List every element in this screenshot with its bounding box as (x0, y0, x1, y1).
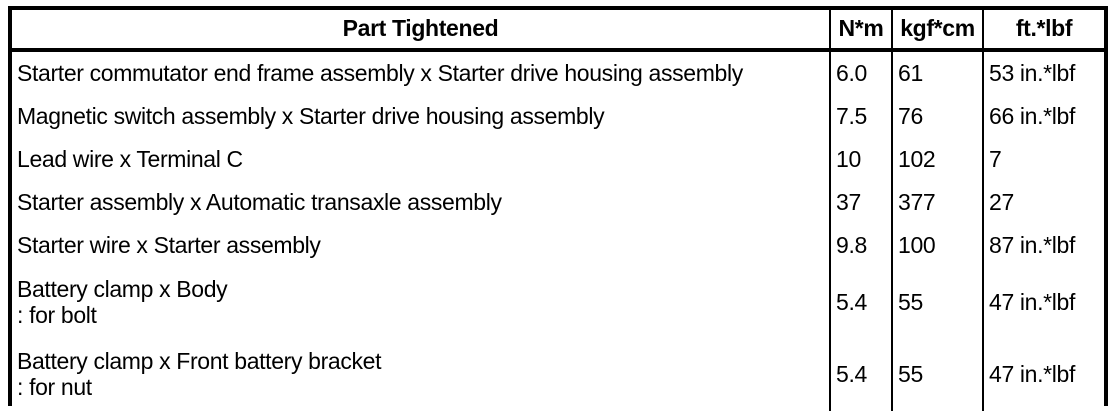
cell-newton-meter: 10 (830, 138, 892, 181)
table-row: Battery clamp x Body : for bolt 5.4 55 4… (12, 267, 1104, 339)
cell-ft-lbf: 27 (983, 181, 1104, 224)
cell-ft-lbf: 87 in.*lbf (983, 224, 1104, 267)
column-header-newton-meter: N*m (830, 10, 892, 50)
cell-part-tightened: Starter commutator end frame assembly x … (12, 50, 830, 95)
cell-newton-meter: 5.4 (830, 267, 892, 339)
cell-part-tightened: Starter wire x Starter assembly (12, 224, 830, 267)
table-row: Battery clamp x Front battery bracket : … (12, 339, 1104, 411)
table-header-row: Part Tightened N*m kgf*cm ft.*lbf (12, 10, 1104, 50)
cell-part-tightened: Magnetic switch assembly x Starter drive… (12, 95, 830, 138)
table-row: Lead wire x Terminal C 10 102 7 (12, 138, 1104, 181)
cell-part-tightened: Battery clamp x Body : for bolt (12, 267, 830, 339)
table-row: Starter commutator end frame assembly x … (12, 50, 1104, 95)
cell-kgf-cm: 55 (892, 267, 983, 339)
table-body: Starter commutator end frame assembly x … (12, 50, 1104, 411)
cell-newton-meter: 6.0 (830, 50, 892, 95)
torque-specification-table-container: Part Tightened N*m kgf*cm ft.*lbf Starte… (8, 6, 1108, 406)
column-header-part-tightened: Part Tightened (12, 10, 830, 50)
table-header: Part Tightened N*m kgf*cm ft.*lbf (12, 10, 1104, 50)
cell-kgf-cm: 377 (892, 181, 983, 224)
cell-ft-lbf: 53 in.*lbf (983, 50, 1104, 95)
cell-part-tightened: Battery clamp x Front battery bracket : … (12, 339, 830, 411)
cell-newton-meter: 5.4 (830, 339, 892, 411)
cell-kgf-cm: 55 (892, 339, 983, 411)
cell-part-tightened: Starter assembly x Automatic transaxle a… (12, 181, 830, 224)
cell-ft-lbf: 47 in.*lbf (983, 267, 1104, 339)
cell-part-tightened: Lead wire x Terminal C (12, 138, 830, 181)
cell-kgf-cm: 61 (892, 50, 983, 95)
cell-newton-meter: 37 (830, 181, 892, 224)
cell-kgf-cm: 100 (892, 224, 983, 267)
cell-newton-meter: 9.8 (830, 224, 892, 267)
table-row: Magnetic switch assembly x Starter drive… (12, 95, 1104, 138)
cell-kgf-cm: 102 (892, 138, 983, 181)
column-header-ft-lbf: ft.*lbf (983, 10, 1104, 50)
cell-kgf-cm: 76 (892, 95, 983, 138)
cell-newton-meter: 7.5 (830, 95, 892, 138)
cell-ft-lbf: 66 in.*lbf (983, 95, 1104, 138)
torque-specification-table: Part Tightened N*m kgf*cm ft.*lbf Starte… (12, 10, 1104, 411)
table-row: Starter assembly x Automatic transaxle a… (12, 181, 1104, 224)
table-row: Starter wire x Starter assembly 9.8 100 … (12, 224, 1104, 267)
cell-ft-lbf: 47 in.*lbf (983, 339, 1104, 411)
cell-ft-lbf: 7 (983, 138, 1104, 181)
column-header-kgf-cm: kgf*cm (892, 10, 983, 50)
